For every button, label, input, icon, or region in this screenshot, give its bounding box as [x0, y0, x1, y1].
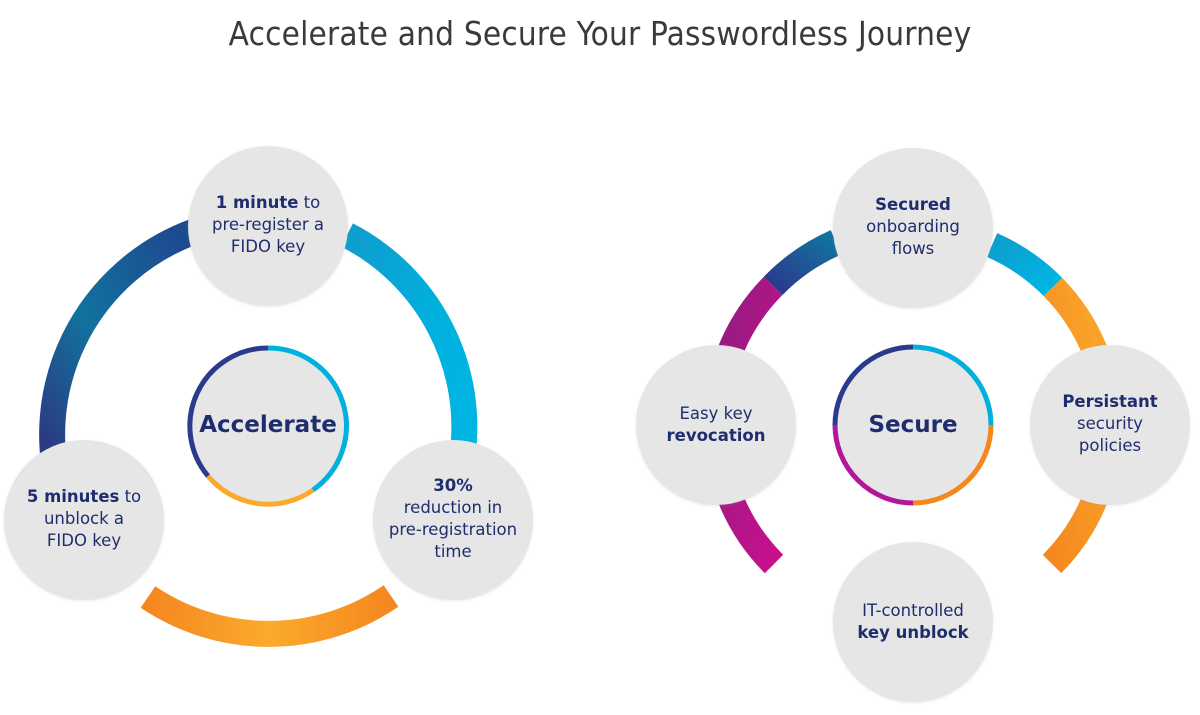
secure-hub-ring — [835, 347, 991, 503]
node-circle-unblock[interactable] — [833, 542, 993, 702]
arc-bottom — [148, 596, 391, 634]
node-circle-unblock[interactable] — [4, 440, 164, 600]
node-circle-onboarding[interactable] — [833, 148, 993, 308]
node-circle-policies[interactable] — [1030, 345, 1190, 505]
accelerate-hub-ring — [190, 348, 347, 504]
diagram-accelerate: Accelerate 1 minute to pre-register a FI… — [0, 0, 600, 715]
arc-upper-right — [992, 245, 1053, 287]
node-circle-pre-register[interactable] — [188, 146, 348, 306]
diagram-secure: Secure Secured onboarding flows Persista… — [600, 0, 1200, 715]
arc-upper-left-2 — [774, 242, 836, 285]
node-circle-reduction[interactable] — [373, 440, 533, 600]
node-circle-revocation[interactable] — [636, 345, 796, 505]
arc-right — [347, 235, 464, 459]
